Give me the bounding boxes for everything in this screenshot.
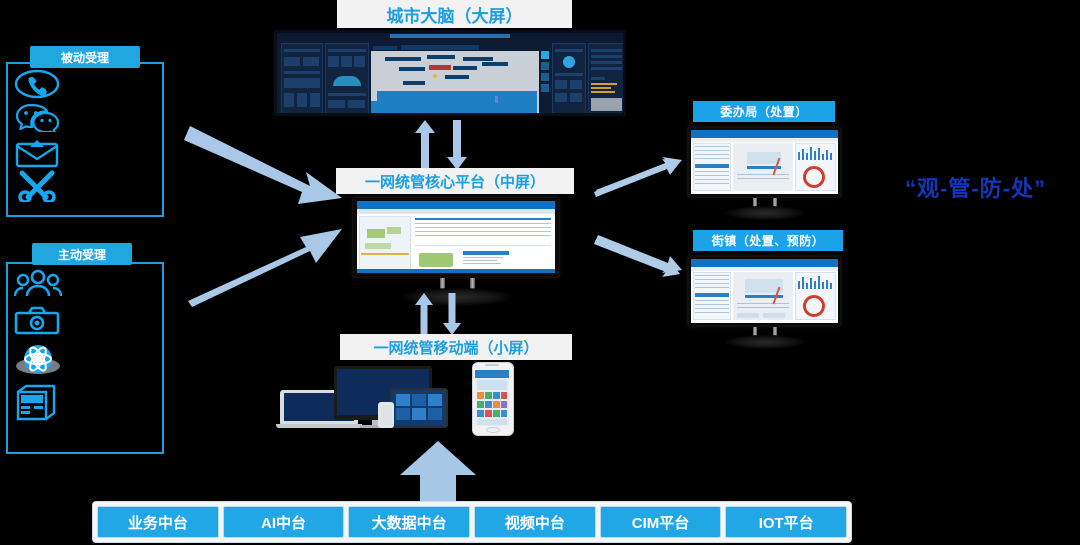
- arrow-core-to-bureau: [592, 156, 684, 200]
- platform-cell-5[interactable]: IOT平台: [725, 506, 847, 538]
- platform-cell-2[interactable]: 大数据中台: [348, 506, 470, 538]
- core-platform-title: 一网统管核心平台（中屏）: [336, 168, 574, 194]
- mobile-device-cluster: [272, 362, 522, 434]
- city-brain-video-wall: [274, 30, 626, 116]
- core-platform-monitor: [352, 196, 560, 304]
- street-title: 街镇（处置、预防）: [693, 230, 843, 251]
- platform-cell-4[interactable]: CIM平台: [600, 506, 722, 538]
- platform-cell-1[interactable]: AI中台: [223, 506, 345, 538]
- scissors-icon: [16, 170, 58, 202]
- street-screen: [691, 259, 838, 323]
- platform-cell-3[interactable]: 视频中台: [474, 506, 596, 538]
- motto-text: “观-管-防-处”: [905, 171, 1046, 203]
- platform-strip: 业务中台 AI中台 大数据中台 视频中台 CIM平台 IOT平台: [92, 501, 852, 543]
- wechat-icon: [14, 102, 62, 132]
- core-platform-screen: [357, 201, 555, 273]
- bureau-title: 委办局（处置）: [693, 101, 835, 122]
- phone-hotline-icon: [14, 68, 60, 100]
- arrow-core-to-mobile-down: [442, 293, 462, 335]
- diagram-canvas: 被动受理 主动受理: [0, 0, 1080, 545]
- arrow-mobile-to-core-up: [414, 293, 434, 335]
- big-screen-title: 城市大脑（大屏）: [337, 0, 572, 28]
- mobile-title: 一网统管移动端（小屏）: [340, 334, 572, 360]
- active-intake-header: 主动受理: [32, 243, 132, 265]
- people-group-icon: [14, 268, 62, 300]
- camera-icon: [14, 306, 60, 336]
- active-intake-label: 主动受理: [58, 246, 106, 263]
- server-cabinet-icon: [15, 383, 61, 421]
- arrow-core-to-wall-down: [446, 120, 468, 170]
- passive-intake-header: 被动受理: [30, 46, 140, 68]
- street-monitor: [687, 255, 842, 345]
- platform-cell-0[interactable]: 业务中台: [97, 506, 219, 538]
- arrow-wall-to-core-up: [414, 120, 436, 170]
- sensor-atom-icon: [14, 342, 62, 378]
- bureau-monitor: [687, 126, 842, 216]
- arrow-active-to-core: [160, 205, 345, 310]
- arrow-core-to-street: [592, 232, 684, 278]
- arrow-platforms-to-mobile: [398, 441, 478, 509]
- mail-envelope-icon: [15, 138, 59, 168]
- bureau-screen: [691, 130, 838, 194]
- passive-intake-label: 被动受理: [61, 49, 109, 66]
